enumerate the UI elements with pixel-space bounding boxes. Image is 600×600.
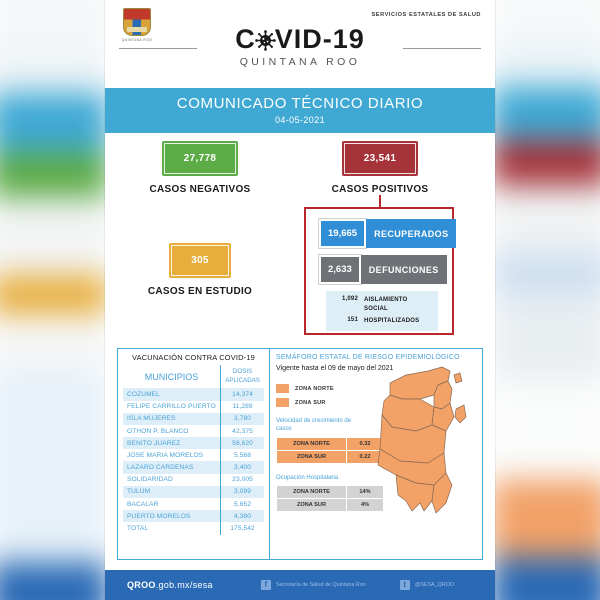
doses-applied: 3,780: [221, 413, 264, 425]
virus-icon: [255, 30, 276, 51]
covid-subtitle: QUINTANA ROO: [105, 56, 495, 68]
positive-connector-line: [379, 195, 381, 207]
infographic-canvas: QUINTANA ROO SERVICIOS ESTATALES DE SALU…: [0, 0, 600, 600]
table-row: LAZARO CARDENAS3,400: [123, 461, 264, 473]
municipality-name: FELIPE CARRILLO PUERTO: [123, 401, 221, 413]
municipality-name: COZUMEL: [123, 388, 221, 400]
covid-logo: CVID-19 QUINTANA ROO: [105, 26, 495, 68]
banner-date: 04-05-2021: [105, 115, 495, 125]
covid-title: CVID-19: [235, 26, 365, 53]
poster-header: QUINTANA ROO SERVICIOS ESTATALES DE SALU…: [105, 0, 495, 88]
positive-label: CASOS POSITIVOS: [305, 184, 455, 195]
isolation-value: 1,092: [332, 296, 364, 302]
stat-positive-cases: 23,541 CASOS POSITIVOS: [305, 141, 455, 195]
stat-isolation: 1,092 AISLAMIENTO SOCIAL: [332, 296, 432, 314]
table-row: PUERTO MORELOS4,380: [123, 510, 264, 522]
daily-report-banner: COMUNICADO TÉCNICO DIARIO 04-05-2021: [105, 88, 495, 133]
municipality-name: SOLIDARIDAD: [123, 474, 221, 486]
poster: QUINTANA ROO SERVICIOS ESTATALES DE SALU…: [105, 0, 495, 600]
hospitalized-label: HOSPITALIZADOS: [364, 317, 419, 326]
stat-cases-in-study: 305 CASOS EN ESTUDIO: [125, 243, 275, 297]
vaccination-table: MUNICIPIOS DOSISAPLICADAS COZUMEL14,374F…: [123, 365, 264, 535]
in-study-value: 305: [171, 245, 229, 276]
covid-title-vid19: VID-19: [275, 24, 365, 54]
semaforo-section: SEMÁFORO ESTATAL DE RIESGO EPIDEMIOLÓGIC…: [270, 349, 482, 559]
banner-title: COMUNICADO TÉCNICO DIARIO: [105, 95, 495, 112]
table-row: COZUMEL14,374: [123, 388, 264, 400]
vaccination-section: VACUNACIÓN CONTRA COVID-19 MUNICIPIOS DO…: [118, 349, 270, 559]
table-row: FELIPE CARRILLO PUERTO11,289: [123, 401, 264, 413]
municipality-name: LAZARO CARDENAS: [123, 461, 221, 473]
twitter-icon: t: [400, 580, 410, 590]
twitter-label: @SESA_QROO: [415, 581, 454, 589]
in-study-label: CASOS EN ESTUDIO: [125, 286, 275, 297]
municipality-name: ISLA MUJERES: [123, 413, 221, 425]
agency-name: SERVICIOS ESTATALES DE SALUD: [372, 12, 481, 18]
table-row: JOSE MARIA MORELOS5,568: [123, 449, 264, 461]
negative-label: CASOS NEGATIVOS: [125, 184, 275, 195]
municipality-name: BACALAR: [123, 498, 221, 510]
quintana-roo-map: [376, 355, 480, 545]
stat-deaths: 2,633 DEFUNCIONES: [319, 255, 447, 284]
stat-negative-cases: 27,778 CASOS NEGATIVOS: [125, 141, 275, 195]
doses-applied: 11,289: [221, 401, 264, 413]
vaccination-title: VACUNACIÓN CONTRA COVID-19: [123, 353, 264, 365]
hospitalized-value: 151: [332, 317, 364, 323]
twitter-link[interactable]: t @SESA_QROO: [400, 580, 454, 590]
negative-value: 27,778: [164, 143, 236, 174]
growth-rate-table: ZONA NORTE 0.32 ZONA SUR 0.22: [276, 437, 384, 464]
doses-applied: 5,568: [221, 449, 264, 461]
url-brand: QROO: [127, 580, 156, 590]
col-municipality: MUNICIPIOS: [123, 365, 221, 388]
bottom-panel: VACUNACIÓN CONTRA COVID-19 MUNICIPIOS DO…: [117, 348, 483, 560]
isolation-label: AISLAMIENTO SOCIAL: [364, 296, 432, 314]
poster-footer: QROO.gob.mx/sesa f Secretaría de Salud d…: [105, 570, 495, 600]
deaths-label: DEFUNCIONES: [361, 255, 447, 284]
table-row: SOLIDARIDAD23,005: [123, 474, 264, 486]
doses-applied: 175,542: [221, 522, 264, 534]
doses-applied: 5,652: [221, 498, 264, 510]
active-cases-box: 1,092 AISLAMIENTO SOCIAL 151 HOSPITALIZA…: [326, 291, 438, 331]
statistics-section: 27,778 CASOS NEGATIVOS 305 CASOS EN ESTU…: [105, 133, 495, 340]
facebook-link[interactable]: f Secretaría de Salud de Quintana Roo: [261, 580, 366, 590]
doses-applied: 14,374: [221, 388, 264, 400]
growth-zone-norte: ZONA NORTE: [277, 437, 347, 450]
website-url[interactable]: QROO.gob.mx/sesa: [127, 580, 213, 590]
table-row: ZONA NORTE 14%: [277, 486, 384, 499]
doses-applied: 3,099: [221, 486, 264, 498]
vaccination-header-row: MUNICIPIOS DOSISAPLICADAS: [123, 365, 264, 388]
covid-title-c: C: [235, 24, 256, 54]
blurred-backdrop-right: [492, 0, 600, 600]
legend-label-zona-norte: ZONA NORTE: [295, 386, 334, 392]
col-doses: DOSISAPLICADAS: [221, 365, 264, 388]
municipality-name: TOTAL: [123, 522, 221, 534]
table-row: ISLA MUJERES3,780: [123, 413, 264, 425]
growth-zone-sur: ZONA SUR: [277, 450, 347, 463]
table-row: TULUM3,099: [123, 486, 264, 498]
doses-applied: 42,375: [221, 425, 264, 437]
table-row: TOTAL175,542: [123, 522, 264, 534]
positive-chip: 23,541: [342, 141, 418, 176]
occupancy-zone-norte: ZONA NORTE: [277, 486, 347, 499]
table-row: BACALAR5,652: [123, 498, 264, 510]
municipality-name: JOSE MARIA MORELOS: [123, 449, 221, 461]
deaths-value: 2,633: [319, 255, 361, 284]
facebook-icon: f: [261, 580, 271, 590]
recovered-value: 19,665: [319, 219, 366, 248]
stat-recovered: 19,665 RECUPERADOS: [319, 219, 456, 248]
legend-label-zona-sur: ZONA SUR: [295, 400, 326, 406]
rule-right: [403, 48, 481, 49]
rule-left: [119, 48, 197, 49]
doses-applied: 23,005: [221, 474, 264, 486]
negative-chip: 27,778: [162, 141, 238, 176]
municipality-name: OTHON P. BLANCO: [123, 425, 221, 437]
hospital-occupancy-title: Ocupación Hospitalaria: [276, 474, 362, 482]
doses-applied: 4,380: [221, 510, 264, 522]
url-path: .gob.mx/sesa: [156, 580, 213, 590]
in-study-chip: 305: [169, 243, 231, 278]
municipality-name: PUERTO MORELOS: [123, 510, 221, 522]
legend-swatch-zona-norte: [276, 384, 289, 393]
recovered-label: RECUPERADOS: [366, 219, 456, 248]
doses-applied: 58,620: [221, 437, 264, 449]
table-row: OTHON P. BLANCO42,375: [123, 425, 264, 437]
facebook-label: Secretaría de Salud de Quintana Roo: [276, 581, 366, 589]
table-row: ZONA SUR 4%: [277, 499, 384, 512]
table-row: BENITO JUAREZ58,620: [123, 437, 264, 449]
stat-hospitalized: 151 HOSPITALIZADOS: [332, 317, 432, 326]
occupancy-zone-sur: ZONA SUR: [277, 499, 347, 512]
hospital-occupancy-table: ZONA NORTE 14% ZONA SUR 4%: [276, 485, 384, 512]
growth-rate-title: Velocidad de crecimiento de casos: [276, 417, 362, 434]
municipality-name: TULUM: [123, 486, 221, 498]
positive-value: 23,541: [344, 143, 416, 174]
blurred-backdrop-left: [0, 0, 108, 600]
municipality-name: BENITO JUAREZ: [123, 437, 221, 449]
table-row: ZONA SUR 0.22: [277, 450, 384, 463]
doses-applied: 3,400: [221, 461, 264, 473]
legend-swatch-zona-sur: [276, 398, 289, 407]
table-row: ZONA NORTE 0.32: [277, 437, 384, 450]
